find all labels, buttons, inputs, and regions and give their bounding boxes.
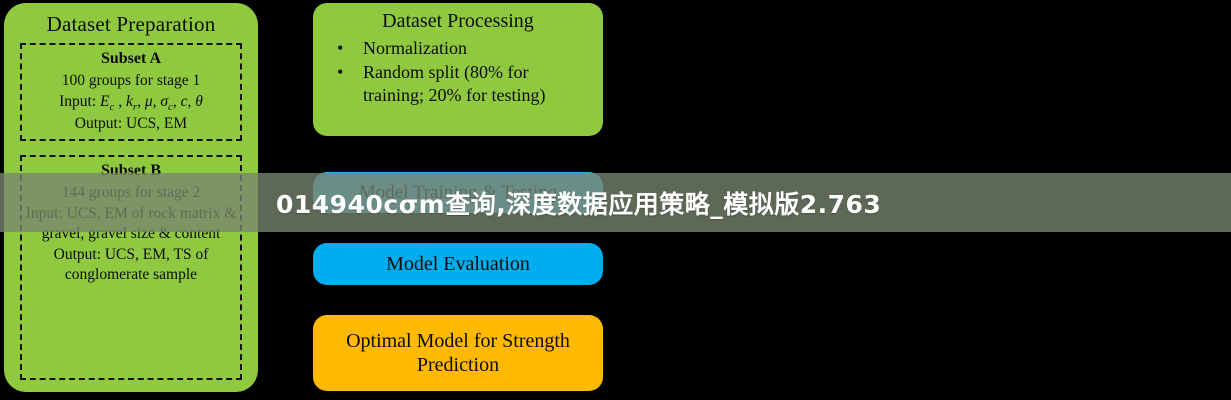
optimal-model-title: Optimal Model for Strength Prediction — [313, 329, 603, 378]
subset-b-groups: 144 groups for stage 2 — [25, 183, 237, 203]
model-evaluation-box: Model Evaluation — [313, 243, 603, 285]
bullet-icon: • — [337, 61, 343, 84]
list-item-label: Random split (80% for training; 20% for … — [363, 62, 545, 105]
model-training-testing-title: Model Training & Testing — [313, 181, 603, 204]
bullet-icon: • — [337, 37, 343, 60]
subset-a-input-label: Input: — [59, 93, 100, 110]
subset-a-heading: Subset A — [25, 49, 237, 70]
dataset-processing-title: Dataset Processing — [323, 9, 593, 33]
dataset-processing-box: Dataset Processing •Normalization •Rando… — [313, 3, 603, 136]
list-item-label: Normalization — [363, 38, 467, 58]
subset-a-groups: 100 groups for stage 1 — [25, 71, 237, 91]
subset-a-input: Input: Ec , kr, μ, σc, c, θ — [25, 92, 237, 114]
dataset-preparation-title: Dataset Preparation — [12, 11, 250, 37]
subset-b-output: Output: UCS, EM, TS of conglomerate samp… — [25, 245, 237, 286]
subset-a-input-symbols: Ec , kr, μ, σc, c, θ — [100, 93, 203, 110]
subset-a-output: Output: UCS, EM — [25, 114, 237, 134]
subset-b-heading: Subset B — [25, 161, 237, 182]
list-item: •Normalization — [329, 37, 589, 60]
list-item: •Random split (80% for training; 20% for… — [329, 61, 589, 107]
dataset-processing-list: •Normalization •Random split (80% for tr… — [323, 37, 593, 108]
diagram-canvas: Dataset Preparation Subset A 100 groups … — [0, 0, 1231, 400]
dataset-preparation-box: Dataset Preparation Subset A 100 groups … — [4, 3, 258, 392]
model-training-testing-box: Model Training & Testing — [313, 172, 603, 213]
model-evaluation-title: Model Evaluation — [313, 252, 603, 276]
subset-a-box: Subset A 100 groups for stage 1 Input: E… — [20, 43, 242, 141]
optimal-model-box: Optimal Model for Strength Prediction — [313, 315, 603, 391]
subset-b-box: Subset B 144 groups for stage 2 Input: U… — [20, 155, 242, 380]
subset-b-input: Input: UCS, EM of rock matrix & gravel, … — [25, 204, 237, 245]
